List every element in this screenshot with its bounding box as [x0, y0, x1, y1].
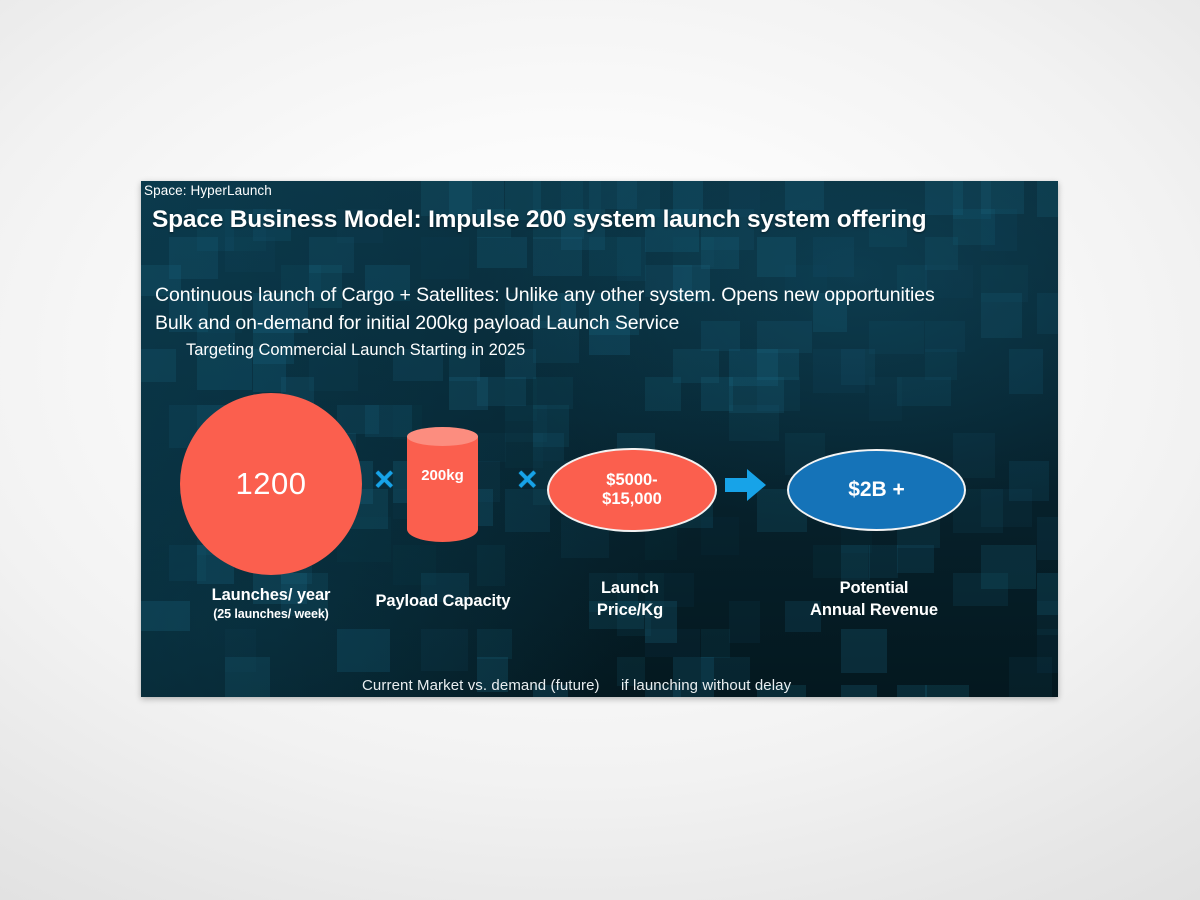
- node-price-value-line2: $15,000: [602, 490, 662, 509]
- caption-revenue: Potential Annual Revenue: [761, 577, 987, 622]
- multiply-operator-1-icon: ✕: [373, 465, 396, 496]
- arrow-right-icon: [725, 469, 766, 501]
- multiply-operator-2-icon: ✕: [516, 465, 539, 496]
- node-revenue-ellipse: $2B +: [787, 449, 966, 531]
- caption-launches: Launches/ year (25 launches/ week): [201, 584, 341, 621]
- caption-revenue-line2: Annual Revenue: [761, 599, 987, 621]
- caption-revenue-line1: Potential: [761, 577, 987, 599]
- business-model-diagram: 1200 ✕ 200kg ✕ $5000- $15,000 $2B +: [141, 181, 1058, 697]
- caption-launches-sub: (25 launches/ week): [201, 607, 341, 621]
- node-revenue-value: $2B +: [848, 478, 905, 502]
- slide-canvas: Space: HyperLaunch Space Business Model:…: [141, 181, 1058, 697]
- node-price-value-line1: $5000-: [606, 471, 657, 490]
- node-payload-value: 200kg: [407, 467, 478, 484]
- cylinder-body: [407, 436, 478, 542]
- caption-price: Launch Price/Kg: [547, 577, 713, 622]
- caption-payload-main: Payload Capacity: [347, 590, 539, 612]
- caption-launches-main: Launches/ year: [201, 584, 341, 606]
- caption-payload: Payload Capacity: [347, 590, 539, 612]
- slide-footnote: Current Market vs. demand (future) if la…: [362, 677, 791, 694]
- node-launches-circle: 1200: [180, 393, 362, 575]
- caption-price-line2: Price/Kg: [547, 599, 713, 621]
- cylinder-top-ellipse: [407, 427, 478, 446]
- node-launches-value: 1200: [236, 466, 307, 502]
- node-payload-cylinder: 200kg: [407, 427, 478, 542]
- caption-price-line1: Launch: [547, 577, 713, 599]
- node-price-ellipse: $5000- $15,000: [547, 448, 717, 532]
